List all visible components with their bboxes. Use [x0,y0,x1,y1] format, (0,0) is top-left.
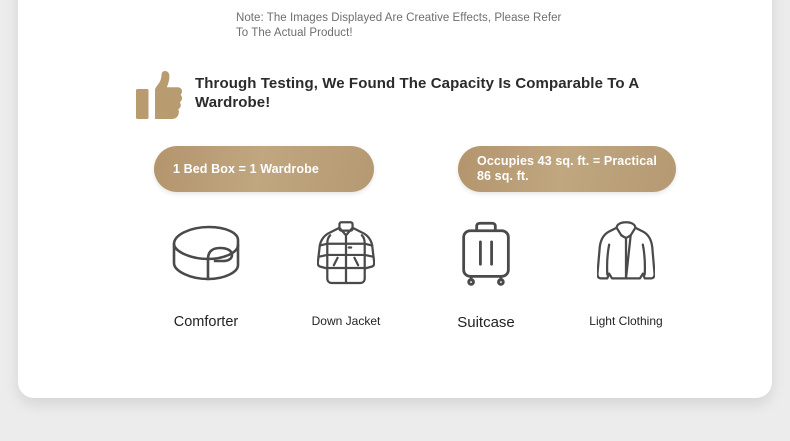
suitcase-icon [459,215,513,293]
stat-pill-group: 1 Bed Box = 1 Wardrobe Occupies 43 sq. f… [136,146,696,192]
list-item: Comforter [136,215,276,331]
list-item-label: Suitcase [457,314,515,331]
stat-pill-label: 1 Bed Box = 1 Wardrobe [173,162,319,177]
stat-pill-label: Occupies 43 sq. ft. = Practical 86 sq. f… [477,154,662,184]
content-card: Note: The Images Displayed Are Creative … [18,0,772,398]
headline-text: Through Testing, We Found The Capacity I… [195,67,655,112]
list-item-label: Light Clothing [589,314,662,328]
list-item-label: Comforter [174,314,238,330]
item-capacity-list: Comforter Down Jacket [136,215,696,331]
disclaimer-note: Note: The Images Displayed Are Creative … [236,11,566,40]
light-clothing-icon [597,215,655,293]
comforter-icon [168,215,244,293]
list-item: Light Clothing [556,215,696,331]
list-item: Down Jacket [276,215,416,331]
stat-pill-area: Occupies 43 sq. ft. = Practical 86 sq. f… [458,146,676,192]
list-item: Suitcase [416,215,556,331]
headline-row: Through Testing, We Found The Capacity I… [136,67,696,121]
thumbs-up-icon [136,71,182,121]
stat-pill-capacity: 1 Bed Box = 1 Wardrobe [154,146,374,192]
down-jacket-icon [317,215,375,293]
list-item-label: Down Jacket [312,314,381,328]
